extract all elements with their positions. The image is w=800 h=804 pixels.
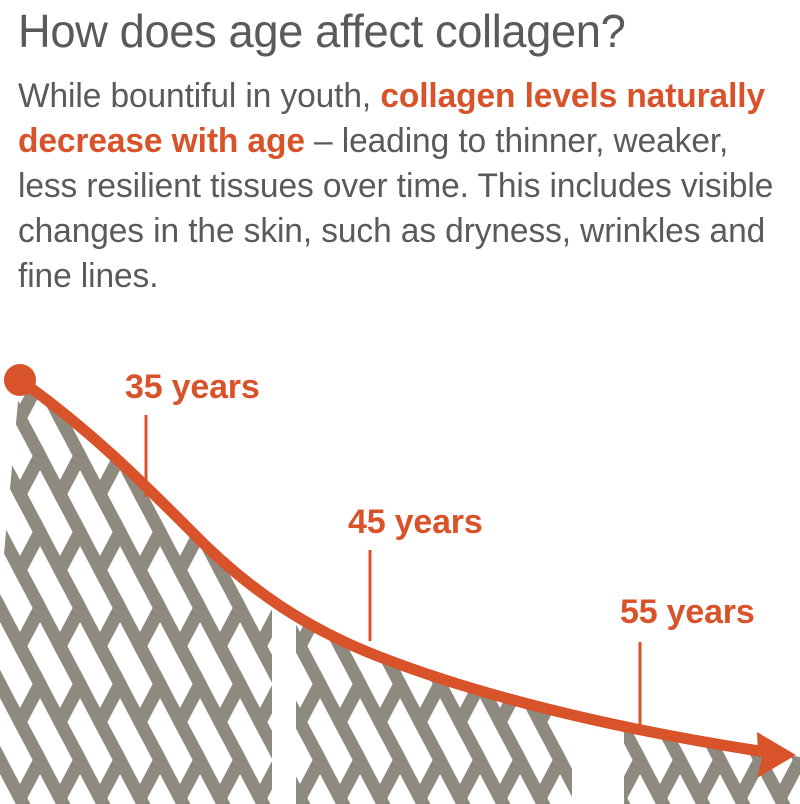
collagen-decline-chart: 35 years 45 years 55 years: [0, 0, 800, 804]
year-label-35: 35 years: [125, 368, 260, 406]
annotation-35-years: 35 years: [125, 368, 260, 497]
annotation-45-years: 45 years: [348, 503, 483, 641]
collagen-age-infographic: How does age affect collagen? While boun…: [0, 0, 800, 804]
year-label-55: 55 years: [620, 593, 755, 631]
year-label-45: 45 years: [348, 503, 483, 541]
annotation-55-years: 55 years: [620, 593, 755, 728]
curve-start-dot: [4, 364, 36, 396]
